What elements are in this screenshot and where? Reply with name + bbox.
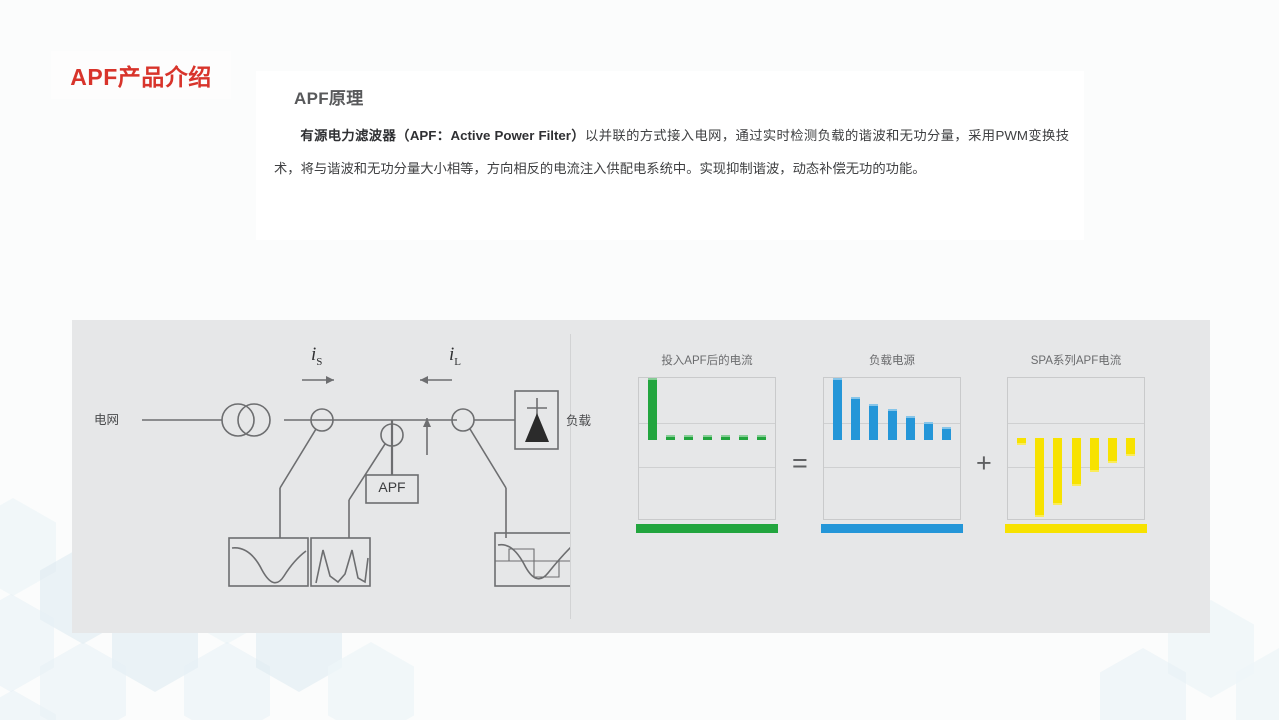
chart-bar: [942, 427, 951, 440]
chart-bar: [684, 435, 693, 440]
gridline-zero: [639, 467, 775, 468]
breaker-lead-load: [470, 429, 506, 488]
chart-load-current: 负载电源: [823, 377, 961, 520]
gridline-zero: [824, 467, 960, 468]
chart-bar: [648, 378, 657, 440]
slide-title-badge: APF产品介绍: [51, 51, 231, 99]
breaker-lead-source: [280, 429, 316, 488]
chart-title: 负载电源: [869, 352, 915, 368]
chart-apf-current: SPA系列APF电流: [1007, 377, 1145, 520]
chart-filtered-current: 投入APF后的电流: [638, 377, 776, 520]
card-heading: APF原理: [294, 84, 364, 109]
current-load-label: iL: [449, 344, 461, 368]
chart-baseline-bar: [1005, 524, 1147, 533]
current-source-label: iS: [311, 344, 322, 368]
chart-bar: [721, 435, 730, 440]
circuit-diagram: 电网 负载 APF iS iL: [72, 320, 570, 633]
gridline: [1008, 423, 1144, 424]
chart-bar: [1053, 438, 1062, 505]
operator-equals: =: [792, 448, 808, 479]
slide-title-text: APF产品介绍: [70, 58, 212, 92]
card-body-lead: 有源电力滤波器（APF：Active Power Filter）: [300, 128, 585, 143]
chart-bar: [757, 435, 766, 440]
chart-bar: [924, 422, 933, 440]
content-card: APF原理 有源电力滤波器（APF：Active Power Filter）以并…: [256, 71, 1084, 240]
chart-bar: [739, 435, 748, 440]
chart-baseline-bar: [636, 524, 778, 533]
chart-bar: [833, 378, 842, 440]
chart-bar: [1035, 438, 1044, 517]
chart-bar: [851, 397, 860, 440]
chart-plot-area: [823, 377, 961, 520]
chart-bar: [1017, 438, 1026, 445]
chart-bar: [1090, 438, 1099, 472]
chart-bar: [1072, 438, 1081, 486]
chart-bar: [1126, 438, 1135, 456]
charts-group: 投入APF后的电流 = 负载电源 + SPA系列APF电流: [570, 320, 1210, 633]
gridline: [639, 423, 775, 424]
arrow-is-head: [326, 376, 334, 384]
chart-baseline-bar: [821, 524, 963, 533]
chart-bar: [869, 404, 878, 440]
chart-plot-area: [1007, 377, 1145, 520]
chart-bar: [1108, 438, 1117, 463]
thyristor-symbol: [525, 413, 549, 442]
apf-box-label: APF: [378, 479, 406, 495]
chart-title: 投入APF后的电流: [661, 352, 752, 368]
waveform-sine-path: [232, 548, 306, 583]
chart-bar: [906, 416, 915, 440]
operator-plus: +: [976, 448, 992, 479]
diagram-panel: 电网 负载 APF iS iL 投入APF后的电流 = 负载电源 +: [72, 320, 1210, 633]
chart-plot-area: [638, 377, 776, 520]
card-body-text: 有源电力滤波器（APF：Active Power Filter）以并联的方式接入…: [274, 120, 1069, 185]
grid-label: 电网: [94, 409, 119, 428]
chart-bar: [703, 435, 712, 440]
arrow-il-head: [420, 376, 428, 384]
chart-bar: [888, 409, 897, 440]
waveform-harmonic-path: [316, 550, 368, 583]
chart-bar: [666, 435, 675, 440]
chart-title: SPA系列APF电流: [1031, 352, 1122, 368]
